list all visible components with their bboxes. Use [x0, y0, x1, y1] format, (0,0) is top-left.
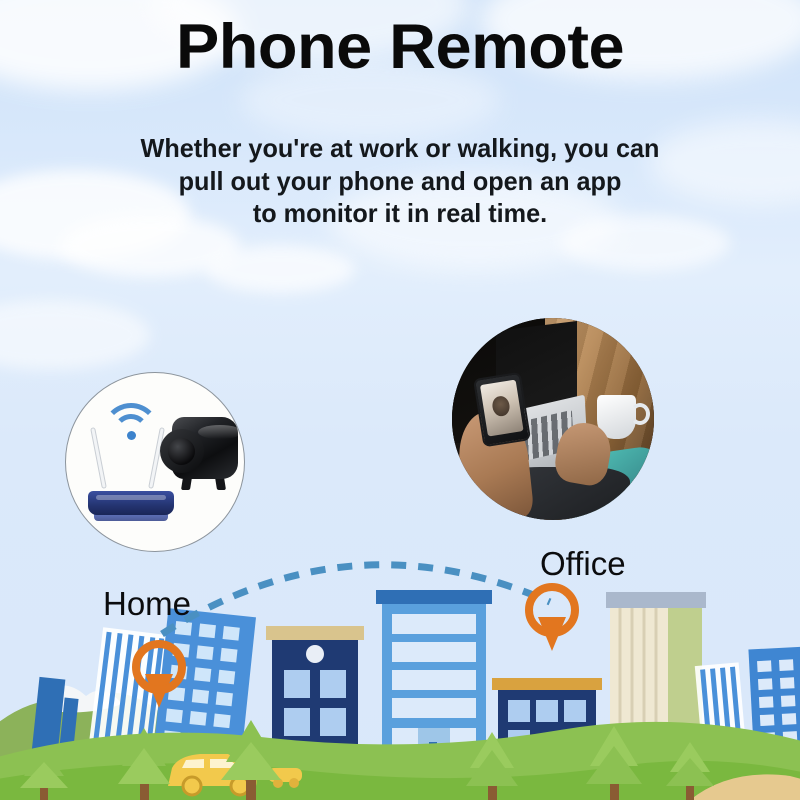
phone-screen — [480, 379, 524, 436]
map-pin-home-ring — [132, 640, 186, 694]
page-title: Phone Remote — [0, 14, 800, 80]
label-home: Home — [103, 585, 191, 623]
subtitle-line-2: pull out your phone and open an app — [61, 165, 740, 198]
subtitle-line-3: to monitor it in real time. — [61, 197, 740, 230]
infographic-canvas: Phone Remote Whether you're at work or w… — [0, 0, 800, 800]
home-device-photo[interactable] — [65, 372, 245, 552]
map-pin-home[interactable] — [132, 640, 186, 712]
subtitle-line-1: Whether you're at work or walking, you c… — [61, 132, 740, 165]
page-subtitle: Whether you're at work or walking, you c… — [61, 132, 740, 230]
connection-arc — [150, 530, 570, 640]
mini-camera-icon — [158, 411, 238, 493]
router-body — [88, 491, 174, 515]
map-pin-office[interactable] — [525, 583, 579, 655]
map-pin-office-ring — [525, 583, 579, 637]
office-usage-photo[interactable] — [452, 318, 654, 520]
label-office: Office — [540, 545, 626, 583]
live-feed-face — [492, 394, 512, 417]
